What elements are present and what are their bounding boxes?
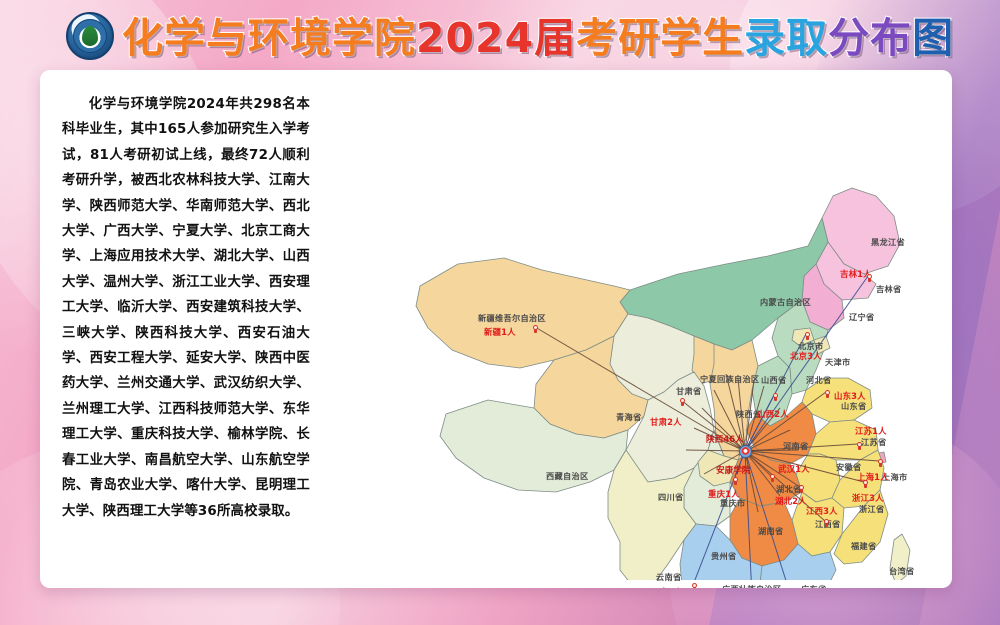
destination-count-label: 新疆1人	[484, 326, 516, 338]
province-label: 内蒙古自治区	[760, 296, 811, 308]
province-label: 福建省	[851, 540, 876, 552]
province-label: 天津市	[825, 356, 850, 368]
destination-count-label: 武汉1人	[778, 463, 810, 475]
province-label: 湖南省	[758, 525, 783, 537]
map-pin-icon	[866, 274, 873, 282]
map-pin-icon	[772, 393, 779, 401]
province-label: 浙江省	[859, 503, 884, 515]
map-pin-icon	[691, 583, 698, 588]
map-pin-icon	[804, 332, 811, 340]
province-label: 台湾省	[889, 565, 914, 577]
china-map-svg	[328, 78, 944, 580]
map-pin-icon	[732, 477, 739, 485]
province-label: 甘肃省	[676, 385, 701, 397]
title-segment: 图	[912, 10, 954, 66]
map-pin-icon	[823, 519, 830, 527]
hub-institution-name: 安康学院	[716, 464, 750, 476]
title-segment: 分布	[828, 10, 912, 66]
destination-count-label: 山东3人	[834, 390, 866, 402]
province-label: 辽宁省	[849, 311, 874, 323]
map-pin-icon	[798, 485, 805, 493]
map-pin-icon	[856, 442, 863, 450]
hub-marker-icon	[739, 445, 752, 458]
destination-count-label: 江苏1人	[855, 425, 887, 437]
hub-province-count: 陕西46人	[706, 433, 744, 445]
map-pin-icon	[824, 390, 831, 398]
province-label: 河南省	[783, 440, 808, 452]
poster-root: 化学与环境学院2024届考研学生录取分布图 化学与环境学院2024年共298名本…	[0, 0, 1000, 625]
province-label: 宁夏回族自治区	[700, 373, 759, 385]
map-pin-icon	[877, 459, 884, 467]
map-pin-icon	[679, 398, 686, 406]
province-label: 广西壮族自治区	[722, 583, 781, 588]
destination-count-label: 湖北2人	[775, 495, 807, 507]
destination-count-label: 江西3人	[806, 505, 838, 517]
province-label: 河北省	[806, 374, 831, 386]
map-pin-icon	[532, 325, 539, 333]
province-label: 山西省	[761, 374, 786, 386]
title-segment: 录取	[744, 10, 828, 66]
province-label: 西藏自治区	[546, 470, 588, 482]
destination-count-label: 北京3人	[790, 350, 822, 362]
intro-paragraph: 化学与环境学院2024年共298名本科毕业生，其中165人参加研究生入学考试，8…	[62, 92, 310, 524]
destination-count-label: 重庆1人	[708, 488, 740, 500]
destination-count-label: 云南1人	[651, 586, 683, 588]
destination-count-label: 甘肃2人	[650, 416, 682, 428]
province-label: 云南省	[656, 571, 681, 583]
content-card: 化学与环境学院2024年共298名本科毕业生，其中165人参加研究生入学考试，8…	[40, 70, 952, 588]
province-label: 新疆维吾尔自治区	[478, 312, 546, 324]
province-label: 四川省	[658, 491, 683, 503]
destination-count-label: 山西2人	[757, 408, 789, 420]
map-pin-icon	[769, 474, 776, 482]
province-label: 贵州省	[711, 550, 736, 562]
leaf-icon	[82, 26, 98, 46]
title-segment: 化学与环境学院	[122, 10, 416, 66]
province-label: 青海省	[616, 411, 641, 423]
province-label: 吉林省	[876, 283, 901, 295]
title-segment: 考研学生	[576, 10, 744, 66]
province-label: 广东省	[801, 583, 826, 588]
province-label: 江苏省	[861, 436, 886, 448]
title-segment: 2024	[416, 10, 534, 66]
china-map: 黑龙江省吉林省辽宁省内蒙古自治区北京市天津市河北省山西省山东省河南省江苏省安徽省…	[328, 78, 944, 580]
destination-count-label: 浙江3人	[852, 492, 884, 504]
province-label: 黑龙江省	[871, 236, 905, 248]
page-title: 化学与环境学院2024届考研学生录取分布图	[122, 10, 954, 66]
poster-banner: 化学与环境学院2024届考研学生录取分布图	[60, 8, 960, 66]
university-emblem-icon	[66, 12, 114, 60]
emblem-inner-ring	[73, 19, 107, 53]
title-segment: 届	[534, 10, 576, 66]
map-pin-icon	[862, 480, 869, 488]
